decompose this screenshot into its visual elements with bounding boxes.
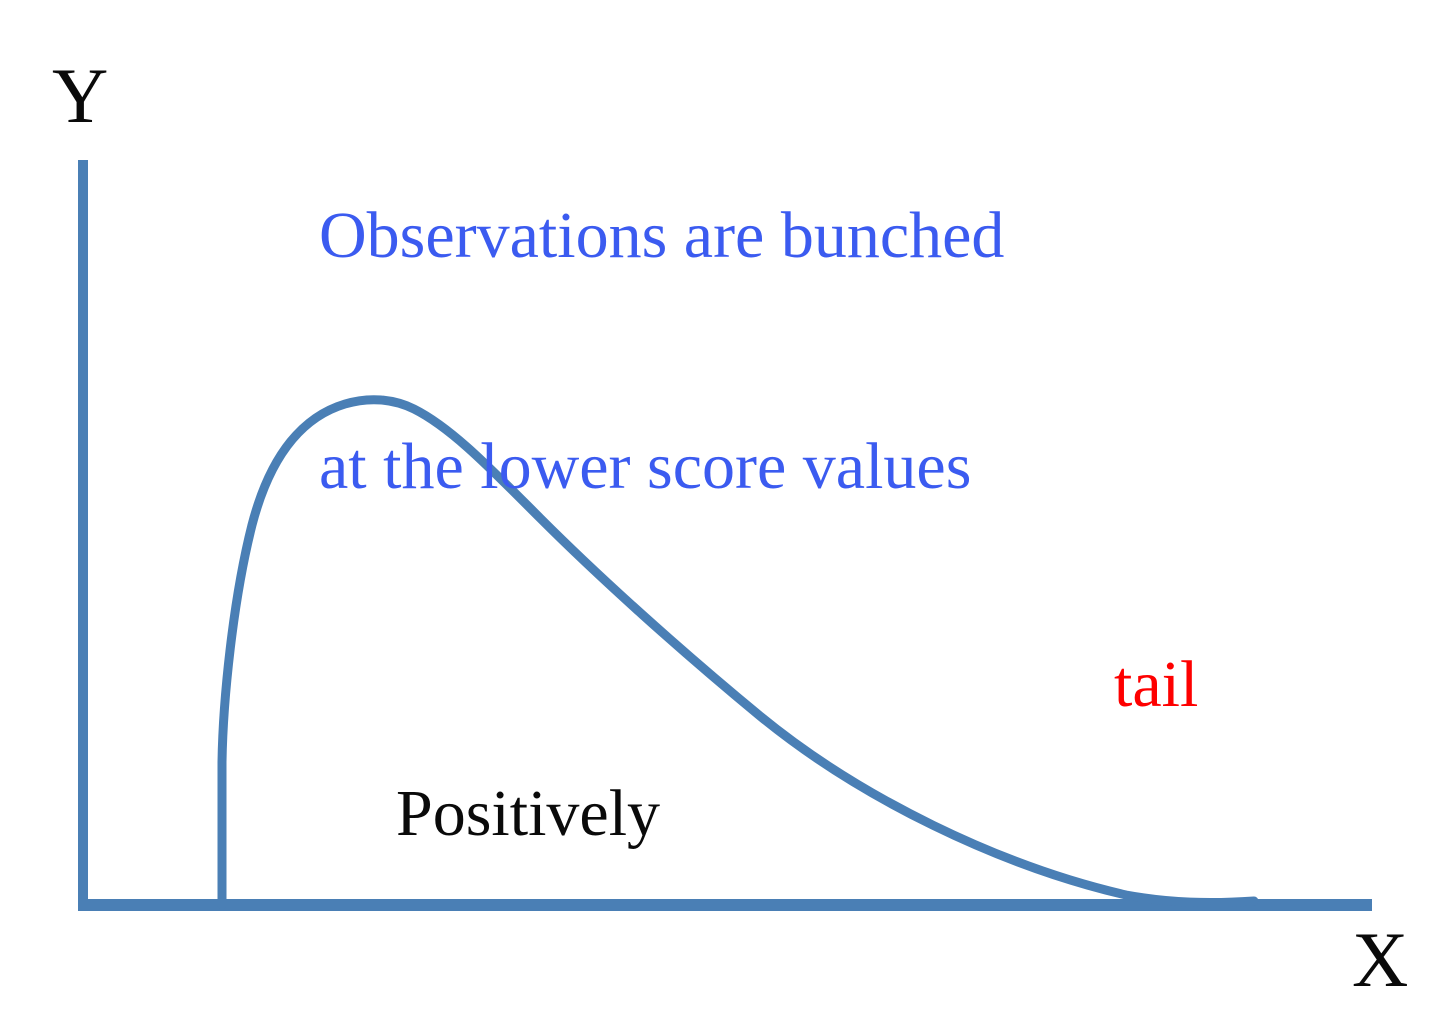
y-axis-label: Y	[52, 48, 108, 143]
x-axis-label: X	[1352, 912, 1408, 1007]
annotation-observations: Observations are bunched at the lower sc…	[253, 62, 1004, 640]
annotation-observations-line1: Observations are bunched	[319, 199, 1004, 272]
annotation-observations-line2: at the lower score values	[319, 430, 971, 503]
annotation-positively-skewed: Positively Skewed	[330, 643, 660, 1034]
annotation-skew-line1: Positively	[396, 777, 660, 850]
annotation-tail: tail	[1114, 645, 1198, 726]
figure-canvas: Y X Observations are bunched at the lowe…	[0, 0, 1440, 1034]
